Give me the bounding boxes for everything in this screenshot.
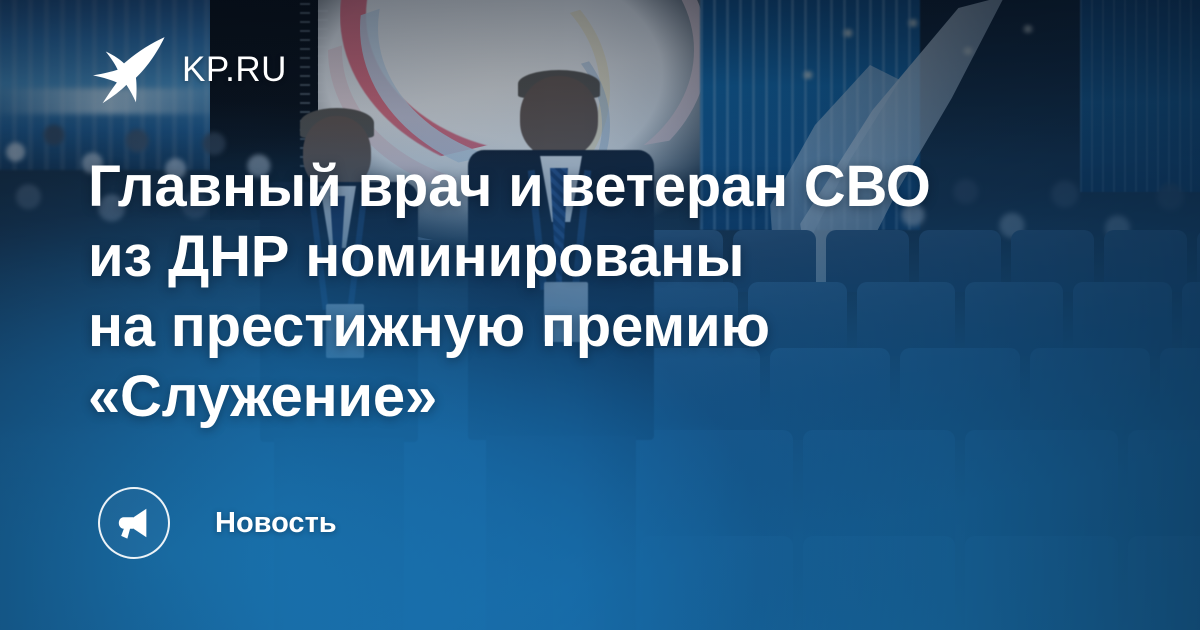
megaphone-icon: [115, 504, 153, 542]
news-share-card: KP.RU Главный врач и ветеран СВО из ДНР …: [0, 0, 1200, 630]
headline-line-3: на престижную премию: [88, 292, 988, 362]
headline-line-4: «Служение»: [88, 362, 988, 432]
megaphone-badge-circle: [98, 487, 170, 559]
swallow-bird-icon: [88, 34, 168, 104]
headline-line-1: Главный врач и ветеран СВО: [88, 152, 988, 222]
page-title: Главный врач и ветеран СВО из ДНР номини…: [88, 152, 988, 432]
headline-line-2: из ДНР номинированы: [88, 222, 988, 292]
status-badge-label: Новость: [215, 509, 337, 538]
card-content: KP.RU Главный врач и ветеран СВО из ДНР …: [0, 0, 1200, 630]
brand-name: KP.RU: [182, 52, 287, 87]
brand-logo[interactable]: KP.RU: [88, 34, 287, 104]
status-badge[interactable]: Новость: [98, 487, 337, 559]
